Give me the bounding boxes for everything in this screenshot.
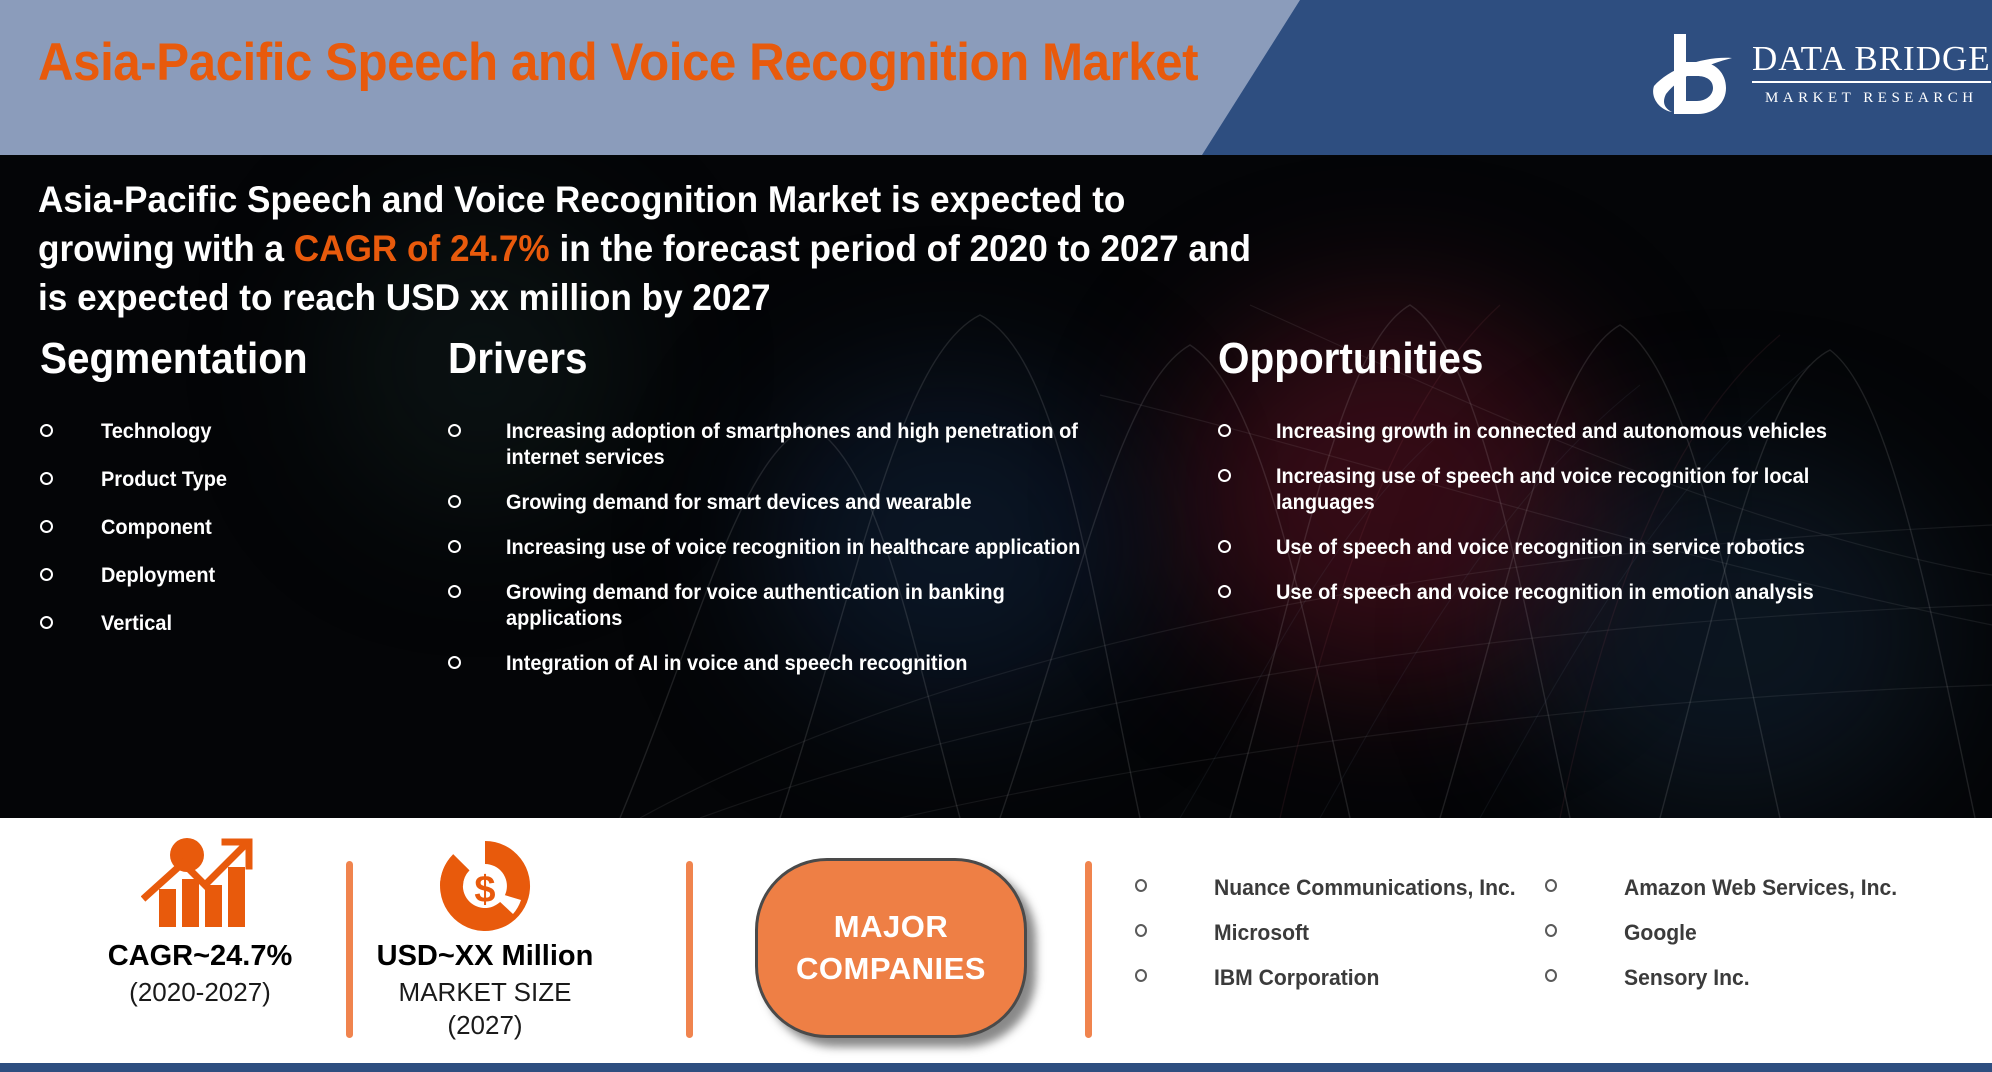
column-title-opportunities: Opportunities — [1218, 335, 1880, 383]
segmentation-item-label: Component — [101, 515, 212, 541]
circle-bullet-icon — [1545, 924, 1557, 937]
circle-bullet-icon — [1218, 424, 1231, 437]
circle-bullet-icon — [448, 585, 461, 598]
page-title: Asia-Pacific Speech and Voice Recognitio… — [38, 33, 1108, 93]
circle-bullet-icon — [448, 424, 461, 437]
databridge-b-logo-icon — [1652, 28, 1738, 120]
circle-bullet-icon — [448, 540, 461, 553]
company-name-label: Sensory Inc. — [1624, 966, 1750, 990]
vertical-divider — [686, 861, 693, 1038]
column-title-segmentation: Segmentation — [40, 335, 344, 383]
circle-bullet-icon — [1218, 469, 1231, 482]
segmentation-item-label: Technology — [101, 419, 211, 445]
vertical-divider — [1085, 861, 1092, 1038]
list-item: Product Type — [40, 467, 370, 493]
major-companies-button[interactable]: MAJOR COMPANIES — [755, 858, 1027, 1038]
opportunities-list: Increasing growth in connected and auton… — [1218, 419, 1938, 606]
list-item: Amazon Web Services, Inc. — [1545, 876, 1955, 900]
circle-bullet-icon — [40, 616, 53, 629]
opportunity-item-label: Increasing use of speech and voice recog… — [1276, 464, 1905, 516]
driver-item-label: Growing demand for smart devices and wea… — [506, 490, 972, 516]
circle-bullet-icon — [448, 495, 461, 508]
driver-item-label: Increasing use of voice recognition in h… — [506, 535, 1080, 561]
list-item: Technology — [40, 419, 370, 445]
companies-column-left: Nuance Communications, Inc. Microsoft IB… — [1135, 876, 1545, 1011]
stat-cagr: CAGR~24.7% (2020-2027) — [60, 836, 340, 1009]
list-item: Increasing growth in connected and auton… — [1218, 419, 1938, 445]
infographic-root: Asia-Pacific Speech and Voice Recognitio… — [0, 0, 1992, 1072]
opportunity-item-label: Use of speech and voice recognition in e… — [1276, 580, 1814, 606]
major-companies-line-2: COMPANIES — [796, 948, 986, 990]
segmentation-list: Technology Product Type Component Deploy… — [40, 419, 370, 637]
driver-item-label: Integration of AI in voice and speech re… — [506, 651, 967, 677]
company-name-label: Google — [1624, 921, 1697, 945]
circle-bullet-icon — [1545, 879, 1557, 892]
list-item: Deployment — [40, 563, 370, 589]
circle-bullet-icon — [448, 656, 461, 669]
header-banner: Asia-Pacific Speech and Voice Recognitio… — [0, 0, 1992, 155]
list-item: Growing demand for voice authentication … — [448, 580, 1148, 632]
market-size-year-label: (2027) — [340, 1009, 630, 1042]
list-item: Increasing use of speech and voice recog… — [1218, 464, 1938, 516]
logo-sub-text: MARKET RESEARCH — [1752, 83, 1991, 109]
cagr-period-label: (2020-2027) — [60, 976, 340, 1009]
logo-text-block: DATA BRIDGE MARKET RESEARCH — [1752, 40, 1991, 109]
list-item: Increasing use of voice recognition in h… — [448, 535, 1148, 561]
company-name-label: Microsoft — [1214, 921, 1309, 945]
list-item: Sensory Inc. — [1545, 966, 1955, 990]
brand-logo: DATA BRIDGE MARKET RESEARCH — [1652, 18, 1952, 130]
circle-bullet-icon — [40, 520, 53, 533]
bottom-accent-bar — [0, 1063, 1992, 1072]
circle-bullet-icon — [1135, 969, 1147, 982]
company-name-label: IBM Corporation — [1214, 966, 1379, 990]
company-name-label: Nuance Communications, Inc. — [1214, 876, 1516, 900]
opportunity-item-label: Increasing growth in connected and auton… — [1276, 419, 1827, 445]
dark-content-panel: Asia-Pacific Speech and Voice Recognitio… — [0, 155, 1992, 818]
growth-bar-chart-arrow-icon — [60, 836, 340, 936]
list-item: Increasing adoption of smartphones and h… — [448, 419, 1148, 471]
column-drivers: Drivers Increasing adoption of smartphon… — [448, 335, 1148, 696]
vertical-divider — [346, 861, 353, 1038]
segmentation-item-label: Product Type — [101, 467, 227, 493]
opportunity-item-label: Use of speech and voice recognition in s… — [1276, 535, 1805, 561]
companies-column-right: Amazon Web Services, Inc. Google Sensory… — [1545, 876, 1955, 1011]
circle-bullet-icon — [40, 568, 53, 581]
circle-bullet-icon — [40, 472, 53, 485]
logo-main-text: DATA BRIDGE — [1752, 40, 1991, 83]
list-item: Use of speech and voice recognition in s… — [1218, 535, 1938, 561]
list-item: Vertical — [40, 611, 370, 637]
company-name-label: Amazon Web Services, Inc. — [1624, 876, 1897, 900]
segmentation-item-label: Deployment — [101, 563, 215, 589]
circle-bullet-icon — [1218, 540, 1231, 553]
market-size-caption-label: MARKET SIZE — [340, 976, 630, 1009]
donut-dollar-chart-icon: $ — [340, 836, 630, 936]
market-size-value-label: USD~XX Million — [340, 936, 630, 976]
list-item: Integration of AI in voice and speech re… — [448, 651, 1148, 677]
driver-item-label: Growing demand for voice authentication … — [506, 580, 1116, 632]
list-item: Nuance Communications, Inc. — [1135, 876, 1545, 900]
column-title-drivers: Drivers — [448, 335, 1092, 383]
list-item: Use of speech and voice recognition in e… — [1218, 580, 1938, 606]
columns-container: Segmentation Technology Product Type Com… — [0, 335, 1992, 755]
major-companies-line-1: MAJOR — [834, 906, 948, 948]
circle-bullet-icon — [40, 424, 53, 437]
stat-market-size: $ USD~XX Million MARKET SIZE (2027) — [340, 836, 630, 1042]
companies-lists: Nuance Communications, Inc. Microsoft IB… — [1135, 876, 1955, 1011]
cagr-value-label: CAGR~24.7% — [60, 936, 340, 976]
headline-statement: Asia-Pacific Speech and Voice Recognitio… — [38, 175, 1254, 322]
headline-cagr-accent: CAGR of 24.7% — [294, 228, 550, 269]
segmentation-item-label: Vertical — [101, 611, 172, 637]
circle-bullet-icon — [1218, 585, 1231, 598]
list-item: Microsoft — [1135, 921, 1545, 945]
list-item: Growing demand for smart devices and wea… — [448, 490, 1148, 516]
circle-bullet-icon — [1545, 969, 1557, 982]
drivers-list: Increasing adoption of smartphones and h… — [448, 419, 1148, 677]
svg-text:$: $ — [474, 869, 495, 911]
column-opportunities: Opportunities Increasing growth in conne… — [1218, 335, 1938, 625]
column-segmentation: Segmentation Technology Product Type Com… — [40, 335, 370, 659]
list-item: IBM Corporation — [1135, 966, 1545, 990]
circle-bullet-icon — [1135, 879, 1147, 892]
driver-item-label: Increasing adoption of smartphones and h… — [506, 419, 1116, 471]
footer-panel: CAGR~24.7% (2020-2027) $ USD~XX Million … — [0, 818, 1992, 1063]
list-item: Google — [1545, 921, 1955, 945]
list-item: Component — [40, 515, 370, 541]
circle-bullet-icon — [1135, 924, 1147, 937]
